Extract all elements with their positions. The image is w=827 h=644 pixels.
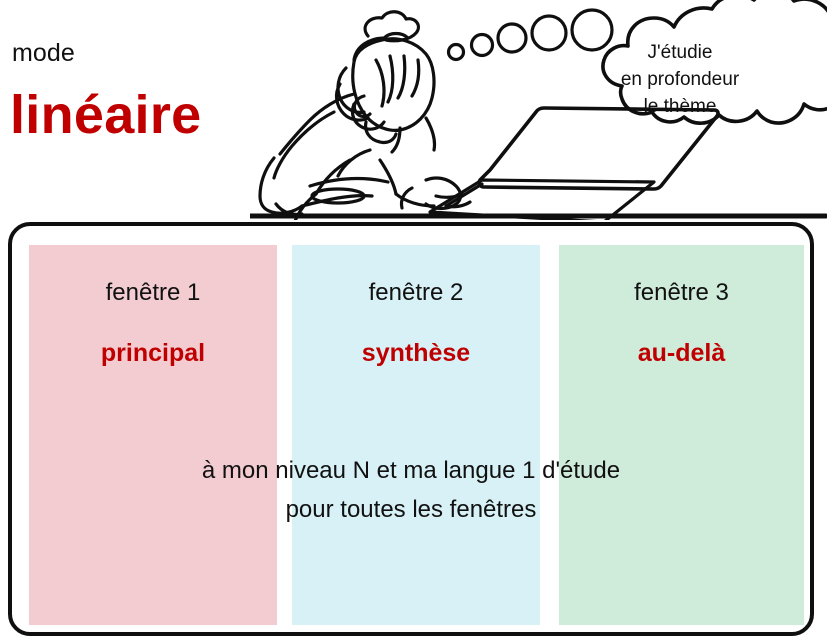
- thought-bubble-line-2: en profondeur: [590, 67, 770, 94]
- thought-bubble-text: J'étudie en profondeur le thème: [590, 40, 770, 121]
- mode-value: linéaire: [10, 88, 202, 142]
- windows-panel: fenêtre 1 principal fenêtre 2 synthèse f…: [8, 222, 814, 636]
- mode-label: mode: [12, 41, 75, 66]
- slide-canvas: mode linéaire: [0, 0, 827, 644]
- thought-bubble-line-1: J'étudie: [590, 40, 770, 67]
- thought-bubble-line-3: le thème: [590, 94, 770, 121]
- window-3-name: fenêtre 3: [559, 281, 804, 305]
- window-1-name: fenêtre 1: [29, 281, 277, 305]
- window-2-name: fenêtre 2: [292, 281, 540, 305]
- window-3-role: au-delà: [559, 341, 804, 366]
- window-column-1[interactable]: fenêtre 1 principal: [29, 245, 277, 625]
- window-1-role: principal: [29, 341, 277, 366]
- window-column-2[interactable]: fenêtre 2 synthèse: [292, 245, 540, 625]
- window-2-role: synthèse: [292, 341, 540, 366]
- window-column-3[interactable]: fenêtre 3 au-delà: [559, 245, 804, 625]
